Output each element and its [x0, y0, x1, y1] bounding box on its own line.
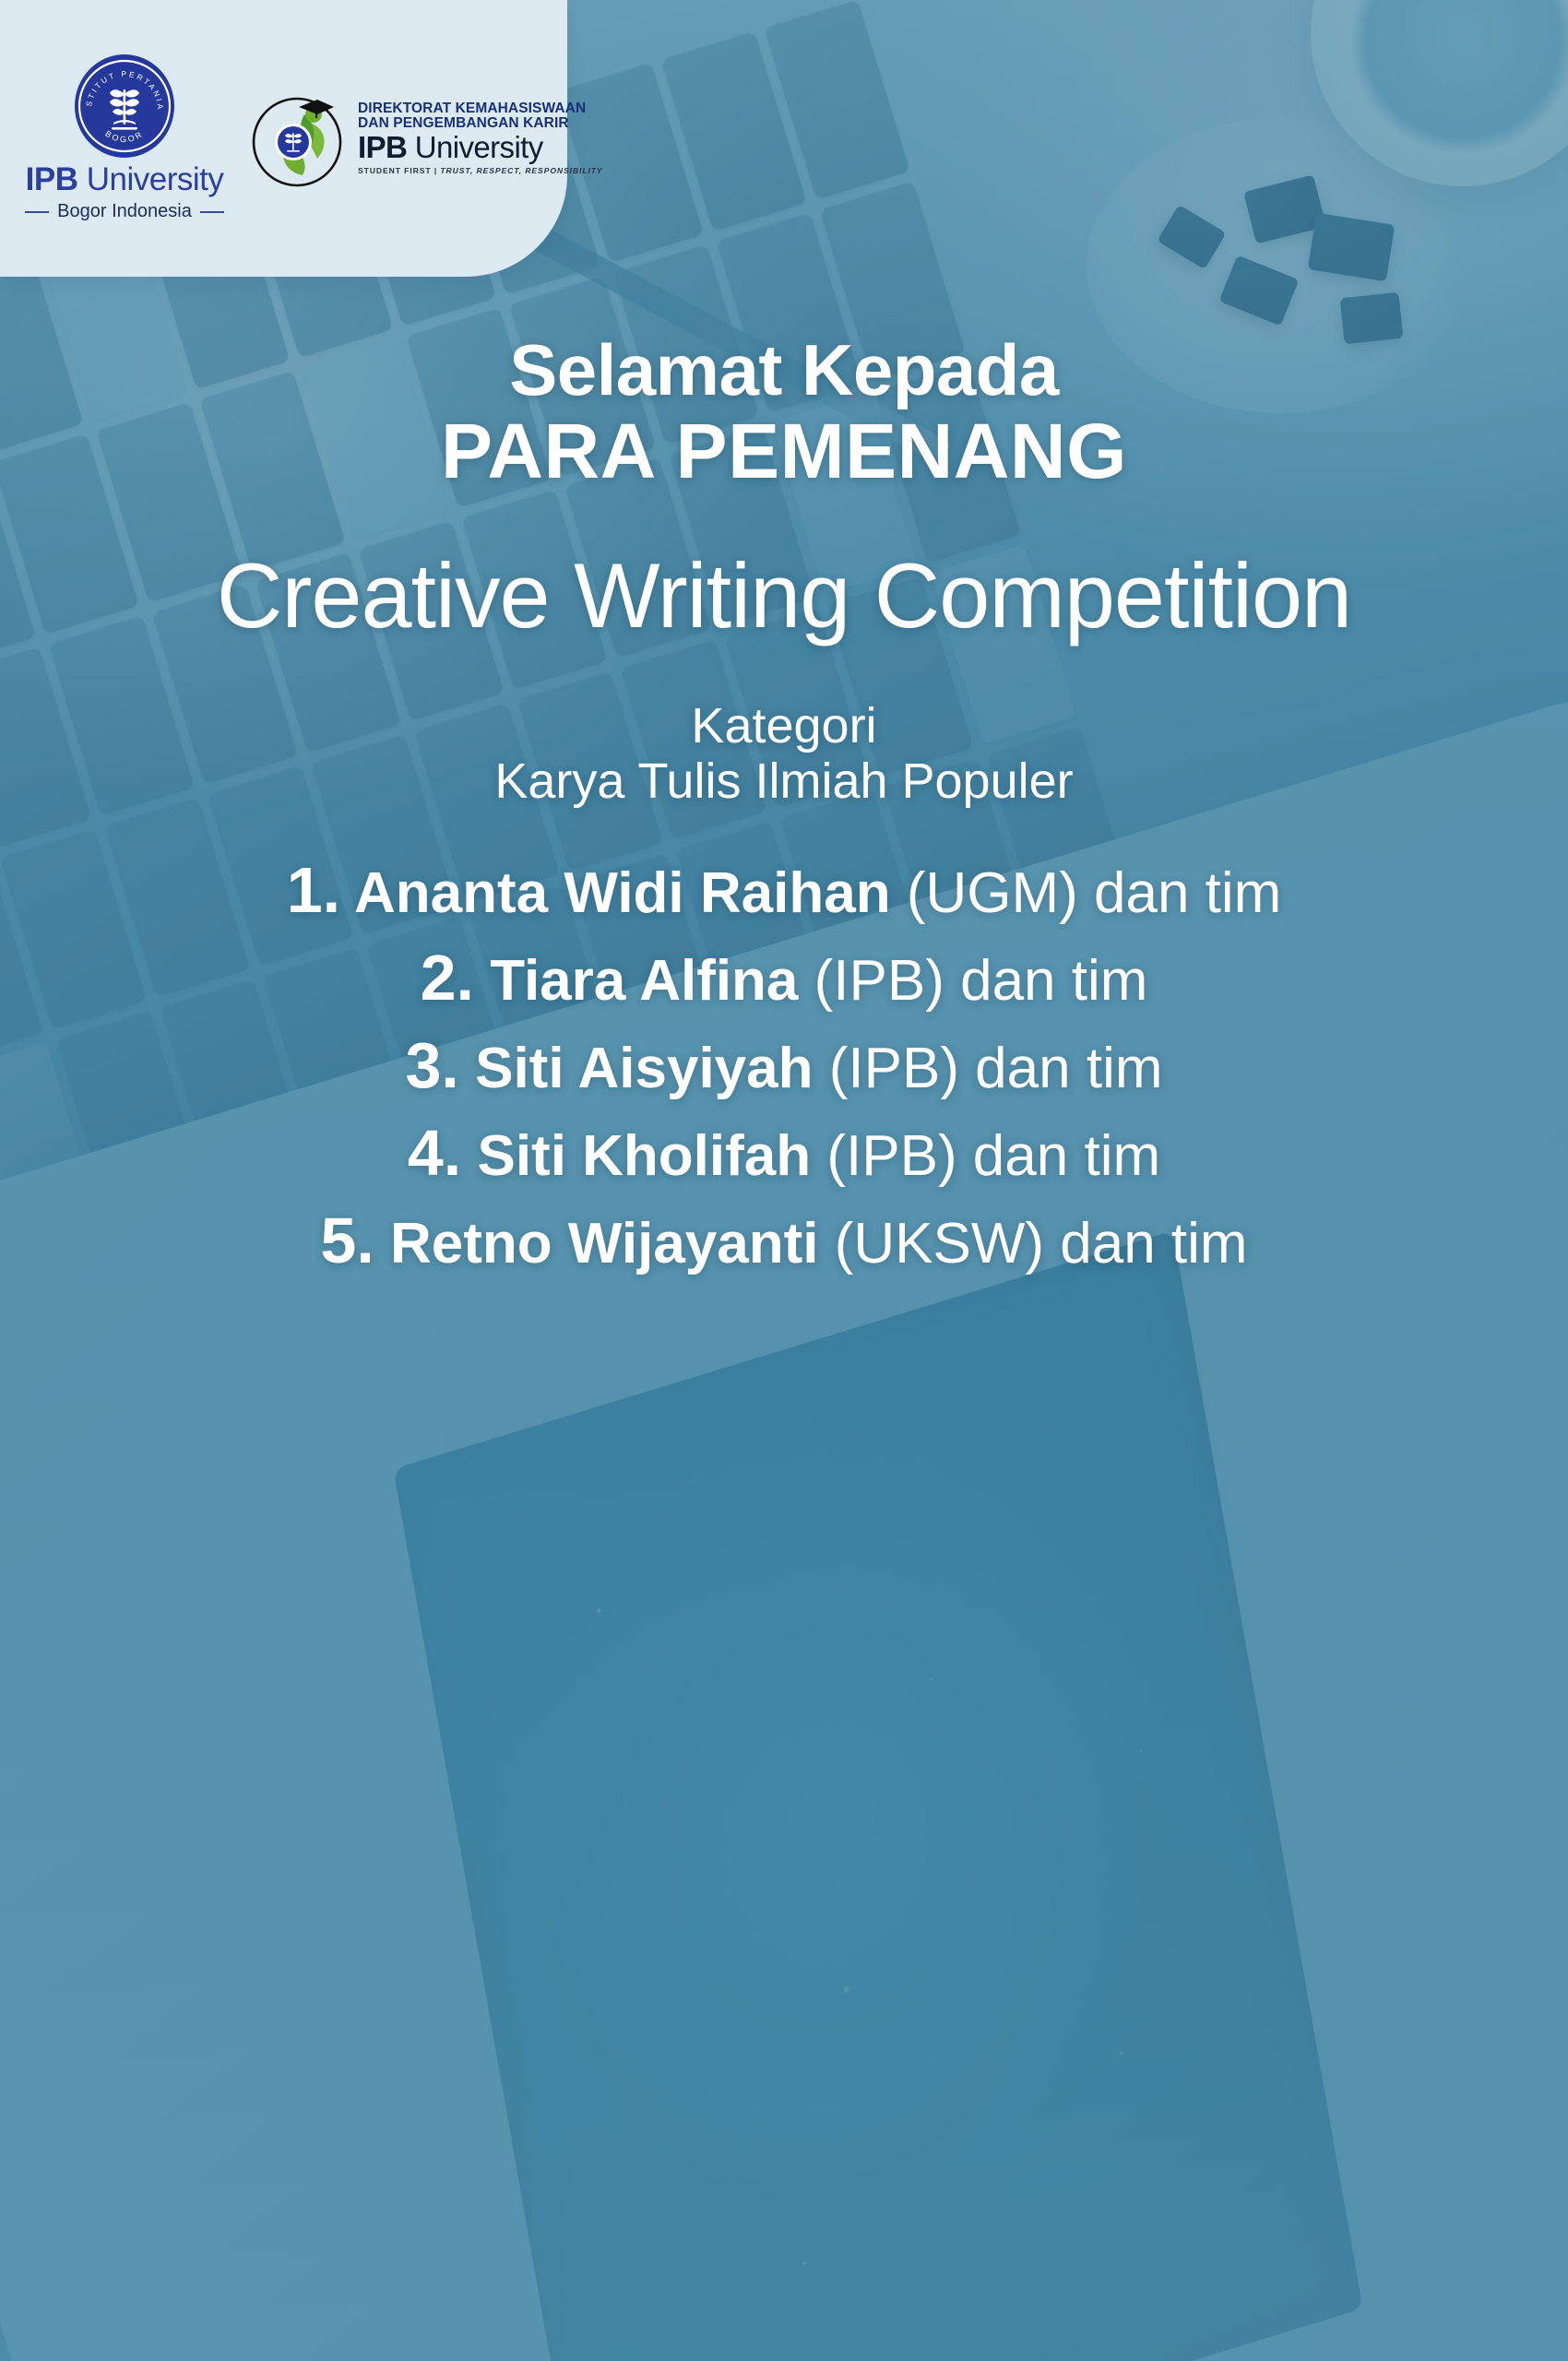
header-logo-panel: INSTITUT PERTANIAN BOGOR [0, 0, 567, 277]
winner-name: Siti Aisyiyah [459, 1037, 829, 1100]
winner-affiliation: (IPB) dan tim [829, 1037, 1163, 1100]
ipb-logo-tagline: Bogor Indonesia [25, 201, 224, 222]
direktorat-motto: STUDENT FIRST | TRUST, RESPECT, RESPONSI… [358, 167, 603, 175]
ipb-logo-tagline-text: Bogor Indonesia [57, 201, 192, 222]
winner-rank: 3. [405, 1029, 458, 1101]
winner-list-item: 3. Siti Aisyiyah (IPB) dan tim [0, 1022, 1568, 1109]
motto-values: TRUST, RESPECT, RESPONSIBILITY [440, 166, 602, 175]
winner-list-item: 5. Retno Wijayanti (UKSW) dan tim [0, 1197, 1568, 1285]
tagline-rule-left [25, 211, 49, 213]
winner-rank: 4. [408, 1117, 461, 1189]
poster-content: Selamat Kepada PARA PEMENANG Creative Wr… [0, 332, 1568, 1299]
category-label: Kategori [0, 698, 1568, 753]
ipb-logo-wordmark: IPB University [26, 163, 224, 196]
winner-affiliation: (UGM) dan tim [907, 861, 1281, 925]
direktorat-line2: DAN PENGEMBANGAN KARIR [358, 116, 603, 131]
winners-list: 1. Ananta Widi Raihan (UGM) dan tim2. Ti… [0, 847, 1568, 1286]
winner-list-item: 4. Siti Kholifah (IPB) dan tim [0, 1109, 1568, 1197]
competition-title: Creative Writing Competition [0, 546, 1568, 647]
winner-name: Ananta Widi Raihan [340, 861, 907, 925]
direktorat-name-light: University [415, 130, 543, 164]
direktorat-kemahasiswaan-icon [245, 87, 349, 190]
winner-name: Tiara Alfina [474, 949, 814, 1013]
motto-student-first: STUDENT FIRST [358, 166, 432, 175]
winner-name: Siti Kholifah [461, 1124, 826, 1188]
winner-rank: 2. [421, 942, 474, 1014]
direktorat-line1: DIREKTORAT KEMAHASISWAAN [358, 101, 603, 116]
winner-list-item: 2. Tiara Alfina (IPB) dan tim [0, 934, 1568, 1022]
direktorat-wordmark: IPB University [358, 132, 603, 163]
ipb-logo-name-bold: IPB [26, 161, 78, 197]
direktorat-kemahasiswaan-logo: DIREKTORAT KEMAHASISWAAN DAN PENGEMBANGA… [245, 87, 603, 190]
category-value: Karya Tulis Ilmiah Populer [0, 753, 1568, 809]
tagline-rule-right [200, 211, 224, 213]
ipb-university-logo: INSTITUT PERTANIAN BOGOR [28, 54, 221, 222]
direktorat-name-bold: IPB [358, 130, 407, 164]
direktorat-logo-text: DIREKTORAT KEMAHASISWAAN DAN PENGEMBANGA… [358, 101, 603, 174]
winner-list-item: 1. Ananta Widi Raihan (UGM) dan tim [0, 847, 1568, 934]
greeting-line-2: PARA PEMENANG [0, 410, 1568, 492]
winner-affiliation: (IPB) dan tim [814, 949, 1148, 1013]
svg-text:BOGOR: BOGOR [103, 129, 145, 144]
motto-divider: | [434, 166, 437, 175]
poster-canvas: INSTITUT PERTANIAN BOGOR [0, 0, 1568, 2361]
ipb-logo-name-light: University [87, 161, 224, 197]
winner-rank: 5. [320, 1204, 374, 1276]
ipb-seal-icon: INSTITUT PERTANIAN BOGOR [75, 54, 174, 158]
winner-name: Retno Wijayanti [374, 1212, 835, 1275]
winner-affiliation: (UKSW) dan tim [835, 1212, 1248, 1275]
winner-rank: 1. [287, 854, 340, 926]
winner-affiliation: (IPB) dan tim [826, 1124, 1160, 1188]
greeting-line-1: Selamat Kepada [0, 332, 1568, 409]
